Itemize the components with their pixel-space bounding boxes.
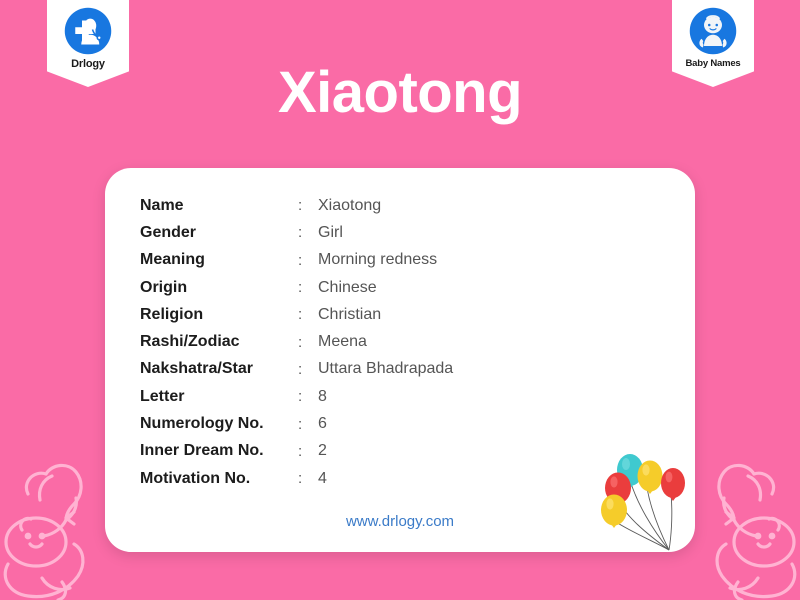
balloons-decoration-icon bbox=[597, 446, 693, 552]
row-label: Inner Dream No. bbox=[140, 438, 298, 465]
row-value: 2 bbox=[318, 438, 453, 465]
name-details-card: Name : Xiaotong Gender : Girl Meaning : … bbox=[105, 168, 695, 552]
name-details-table: Name : Xiaotong Gender : Girl Meaning : … bbox=[140, 192, 453, 492]
row-value: 8 bbox=[318, 383, 453, 410]
table-row: Gender : Girl bbox=[140, 219, 453, 246]
row-label: Letter bbox=[140, 383, 298, 410]
row-value: Xiaotong bbox=[318, 192, 453, 219]
baby-names-badge-label: Baby Names bbox=[676, 58, 750, 69]
row-separator: : bbox=[298, 383, 318, 410]
table-row: Origin : Chinese bbox=[140, 274, 453, 301]
drlogy-badge-body[interactable]: Drlogy bbox=[47, 0, 129, 87]
row-value: Christian bbox=[318, 301, 453, 328]
row-separator: : bbox=[298, 356, 318, 383]
row-separator: : bbox=[298, 274, 318, 301]
website-link[interactable]: www.drlogy.com bbox=[105, 513, 695, 530]
row-separator: : bbox=[298, 247, 318, 274]
table-row: Letter : 8 bbox=[140, 383, 453, 410]
row-label: Motivation No. bbox=[140, 465, 298, 492]
row-label: Origin bbox=[140, 274, 298, 301]
row-label: Numerology No. bbox=[140, 410, 298, 437]
table-body: Name : Xiaotong Gender : Girl Meaning : … bbox=[140, 192, 453, 492]
table-row: Religion : Christian bbox=[140, 301, 453, 328]
row-separator: : bbox=[298, 465, 318, 492]
corner-art-mother-baby-left bbox=[0, 460, 112, 600]
baby-names-badge-body[interactable]: Baby Names bbox=[672, 0, 754, 87]
drlogy-badge-label: Drlogy bbox=[51, 58, 125, 70]
row-separator: : bbox=[298, 219, 318, 246]
row-value: 4 bbox=[318, 465, 453, 492]
row-separator: : bbox=[298, 438, 318, 465]
drlogy-medical-cross-doctor-icon bbox=[64, 7, 112, 55]
row-label: Nakshatra/Star bbox=[140, 356, 298, 383]
row-value: Girl bbox=[318, 219, 453, 246]
table-row: Name : Xiaotong bbox=[140, 192, 453, 219]
row-label: Gender bbox=[140, 219, 298, 246]
row-value: Chinese bbox=[318, 274, 453, 301]
row-separator: : bbox=[298, 410, 318, 437]
table-row: Rashi/Zodiac : Meena bbox=[140, 328, 453, 355]
row-label: Religion bbox=[140, 301, 298, 328]
row-separator: : bbox=[298, 192, 318, 219]
table-row: Numerology No. : 6 bbox=[140, 410, 453, 437]
table-row: Motivation No. : 4 bbox=[140, 465, 453, 492]
row-value: Meena bbox=[318, 328, 453, 355]
baby-names-badge[interactable]: Baby Names bbox=[672, 0, 754, 87]
row-value: Morning redness bbox=[318, 247, 453, 274]
row-separator: : bbox=[298, 328, 318, 355]
table-row: Inner Dream No. : 2 bbox=[140, 438, 453, 465]
row-value: 6 bbox=[318, 410, 453, 437]
row-label: Name bbox=[140, 192, 298, 219]
row-separator: : bbox=[298, 301, 318, 328]
table-row: Meaning : Morning redness bbox=[140, 247, 453, 274]
row-label: Meaning bbox=[140, 247, 298, 274]
corner-art-mother-baby-right bbox=[688, 460, 800, 600]
table-row: Nakshatra/Star : Uttara Bhadrapada bbox=[140, 356, 453, 383]
row-label: Rashi/Zodiac bbox=[140, 328, 298, 355]
baby-avatar-icon bbox=[689, 7, 737, 55]
drlogy-badge[interactable]: Drlogy bbox=[47, 0, 129, 87]
row-value: Uttara Bhadrapada bbox=[318, 356, 453, 383]
